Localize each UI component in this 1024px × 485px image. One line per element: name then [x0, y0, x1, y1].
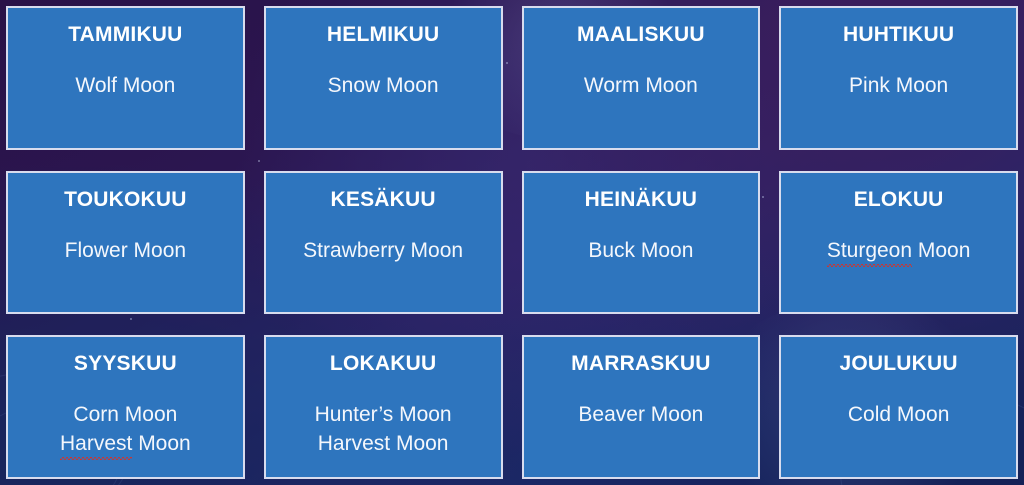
month-card[interactable]: TOUKOKUUFlower Moon [6, 171, 245, 315]
month-card-title: SYYSKUU [74, 352, 177, 375]
month-card-moon-names: Flower Moon [65, 237, 186, 265]
moon-name-line: Harvest Moon [60, 430, 191, 458]
moon-name-text: Flower Moon [65, 239, 186, 262]
slide-canvas: TAMMIKUUWolf MoonHELMIKUUSnow MoonMAALIS… [0, 0, 1024, 485]
moon-name-line: Buck Moon [588, 237, 693, 265]
misspelled-word[interactable]: Sturgeon [827, 237, 912, 265]
month-card-title: MARRASKUU [571, 352, 710, 375]
moon-name-text: Buck Moon [588, 239, 693, 262]
month-card[interactable]: SYYSKUUCorn MoonHarvest Moon [6, 335, 245, 479]
month-card-title: TAMMIKUU [68, 23, 182, 46]
month-card[interactable]: HUHTIKUUPink Moon [779, 6, 1018, 150]
moon-name-text: Strawberry Moon [303, 239, 463, 262]
moon-name-line: Snow Moon [328, 72, 439, 100]
month-card-title: JOULUKUU [839, 352, 957, 375]
moon-name-text: Corn Moon [73, 403, 177, 426]
month-card-moon-names: Buck Moon [588, 237, 693, 265]
month-card[interactable]: HEINÄKUUBuck Moon [522, 171, 761, 315]
month-card-title: LOKAKUU [330, 352, 436, 375]
month-card-moon-names: Wolf Moon [75, 72, 175, 100]
month-card-moon-names: Pink Moon [849, 72, 948, 100]
moon-name-text: Moon [912, 239, 970, 262]
month-card[interactable]: HELMIKUUSnow Moon [264, 6, 503, 150]
month-card-title: HEINÄKUU [585, 188, 697, 211]
moon-name-line: Harvest Moon [315, 430, 452, 458]
month-card-title: HUHTIKUU [843, 23, 954, 46]
moon-name-text: Hunter’s Moon [315, 403, 452, 426]
month-card-moon-names: Corn MoonHarvest Moon [60, 401, 191, 458]
month-card[interactable]: ELOKUUSturgeon Moon [779, 171, 1018, 315]
month-card[interactable]: KESÄKUUStrawberry Moon [264, 171, 503, 315]
moon-name-text: Snow Moon [328, 74, 439, 97]
moon-name-line: Flower Moon [65, 237, 186, 265]
month-card-title: KESÄKUU [331, 188, 436, 211]
month-card-moon-names: Beaver Moon [578, 401, 703, 429]
moon-name-line: Pink Moon [849, 72, 948, 100]
moon-name-line: Hunter’s Moon [315, 401, 452, 429]
moon-name-line: Strawberry Moon [303, 237, 463, 265]
moon-name-line: Cold Moon [848, 401, 950, 429]
month-card[interactable]: LOKAKUUHunter’s MoonHarvest Moon [264, 335, 503, 479]
month-card[interactable]: TAMMIKUUWolf Moon [6, 6, 245, 150]
moon-name-line: Wolf Moon [75, 72, 175, 100]
misspelled-word[interactable]: Harvest [60, 430, 132, 458]
moon-name-text: Moon [132, 432, 190, 455]
month-card-title: ELOKUU [854, 188, 944, 211]
month-card-title: HELMIKUU [327, 23, 439, 46]
month-card-title: MAALISKUU [577, 23, 705, 46]
moon-name-line: Sturgeon Moon [827, 237, 971, 265]
moon-name-line: Worm Moon [584, 72, 698, 100]
month-card[interactable]: MAALISKUUWorm Moon [522, 6, 761, 150]
month-card-grid: TAMMIKUUWolf MoonHELMIKUUSnow MoonMAALIS… [6, 6, 1018, 479]
moon-name-line: Beaver Moon [578, 401, 703, 429]
month-card[interactable]: JOULUKUUCold Moon [779, 335, 1018, 479]
month-card[interactable]: MARRASKUUBeaver Moon [522, 335, 761, 479]
moon-name-text: Beaver Moon [578, 403, 703, 426]
moon-name-text: Worm Moon [584, 74, 698, 97]
moon-name-line: Corn Moon [60, 401, 191, 429]
month-card-moon-names: Cold Moon [848, 401, 950, 429]
month-card-moon-names: Strawberry Moon [303, 237, 463, 265]
moon-name-text: Harvest Moon [318, 432, 449, 455]
moon-name-text: Cold Moon [848, 403, 950, 426]
month-card-title: TOUKOKUU [64, 188, 187, 211]
month-card-moon-names: Hunter’s MoonHarvest Moon [315, 401, 452, 458]
month-card-moon-names: Sturgeon Moon [827, 237, 971, 265]
moon-name-text: Pink Moon [849, 74, 948, 97]
moon-name-text: Wolf Moon [75, 74, 175, 97]
month-card-moon-names: Worm Moon [584, 72, 698, 100]
month-card-moon-names: Snow Moon [328, 72, 439, 100]
